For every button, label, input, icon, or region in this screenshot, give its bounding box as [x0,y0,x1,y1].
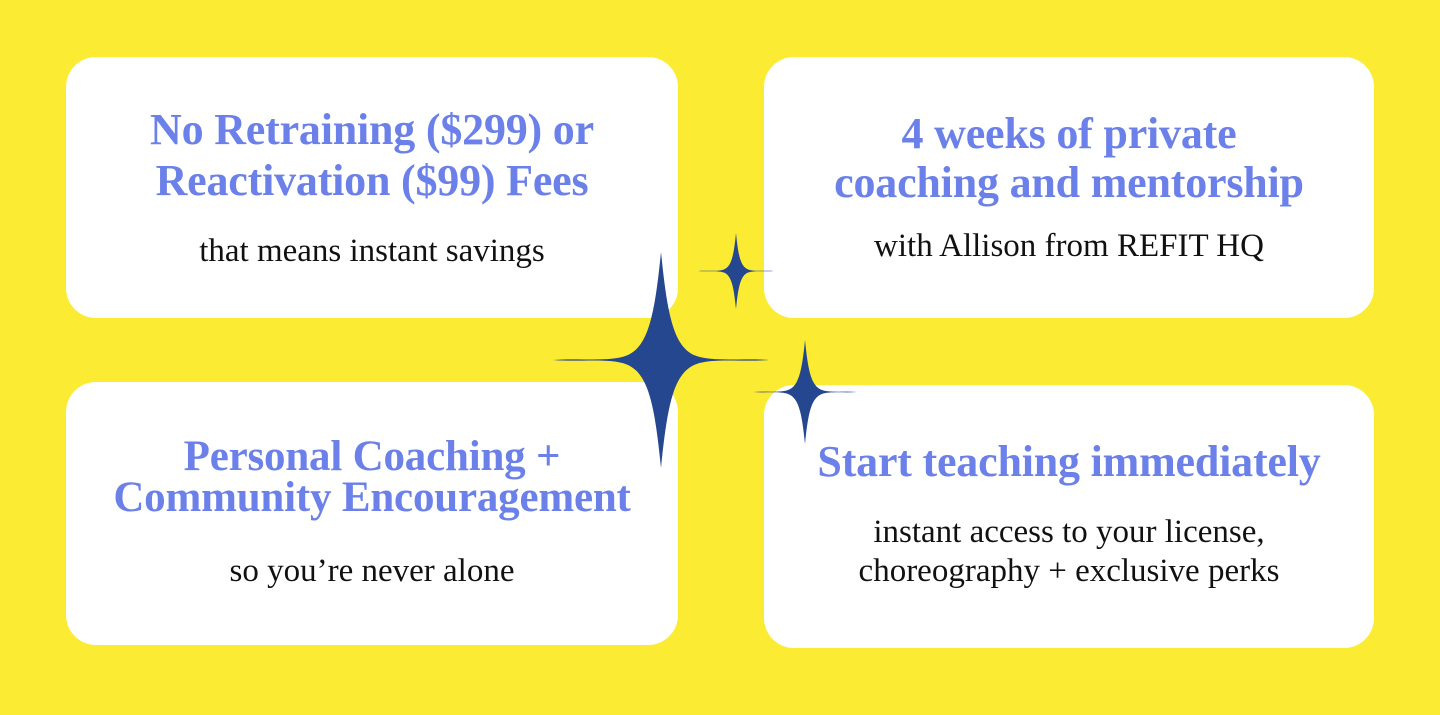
benefit-card-private-coaching: 4 weeks of private coaching and mentorsh… [764,57,1374,318]
benefit-headline: No Retraining ($299) or Reactivation ($9… [66,104,678,206]
benefit-headline: Start teaching immediately [795,442,1342,482]
sparkle-small-icon [698,233,774,309]
benefit-subtext: with Allison from REFIT HQ [856,227,1282,266]
sparkle-medium-icon [753,340,857,444]
benefit-headline: 4 weeks of private coaching and mentorsh… [764,109,1374,208]
benefit-subtext: that means instant savings [181,232,563,271]
benefit-subtext: so you’re never alone [212,552,533,591]
benefit-subtext: instant access to your license, choreogr… [764,513,1374,591]
benefits-grid: No Retraining ($299) or Reactivation ($9… [0,0,1440,715]
